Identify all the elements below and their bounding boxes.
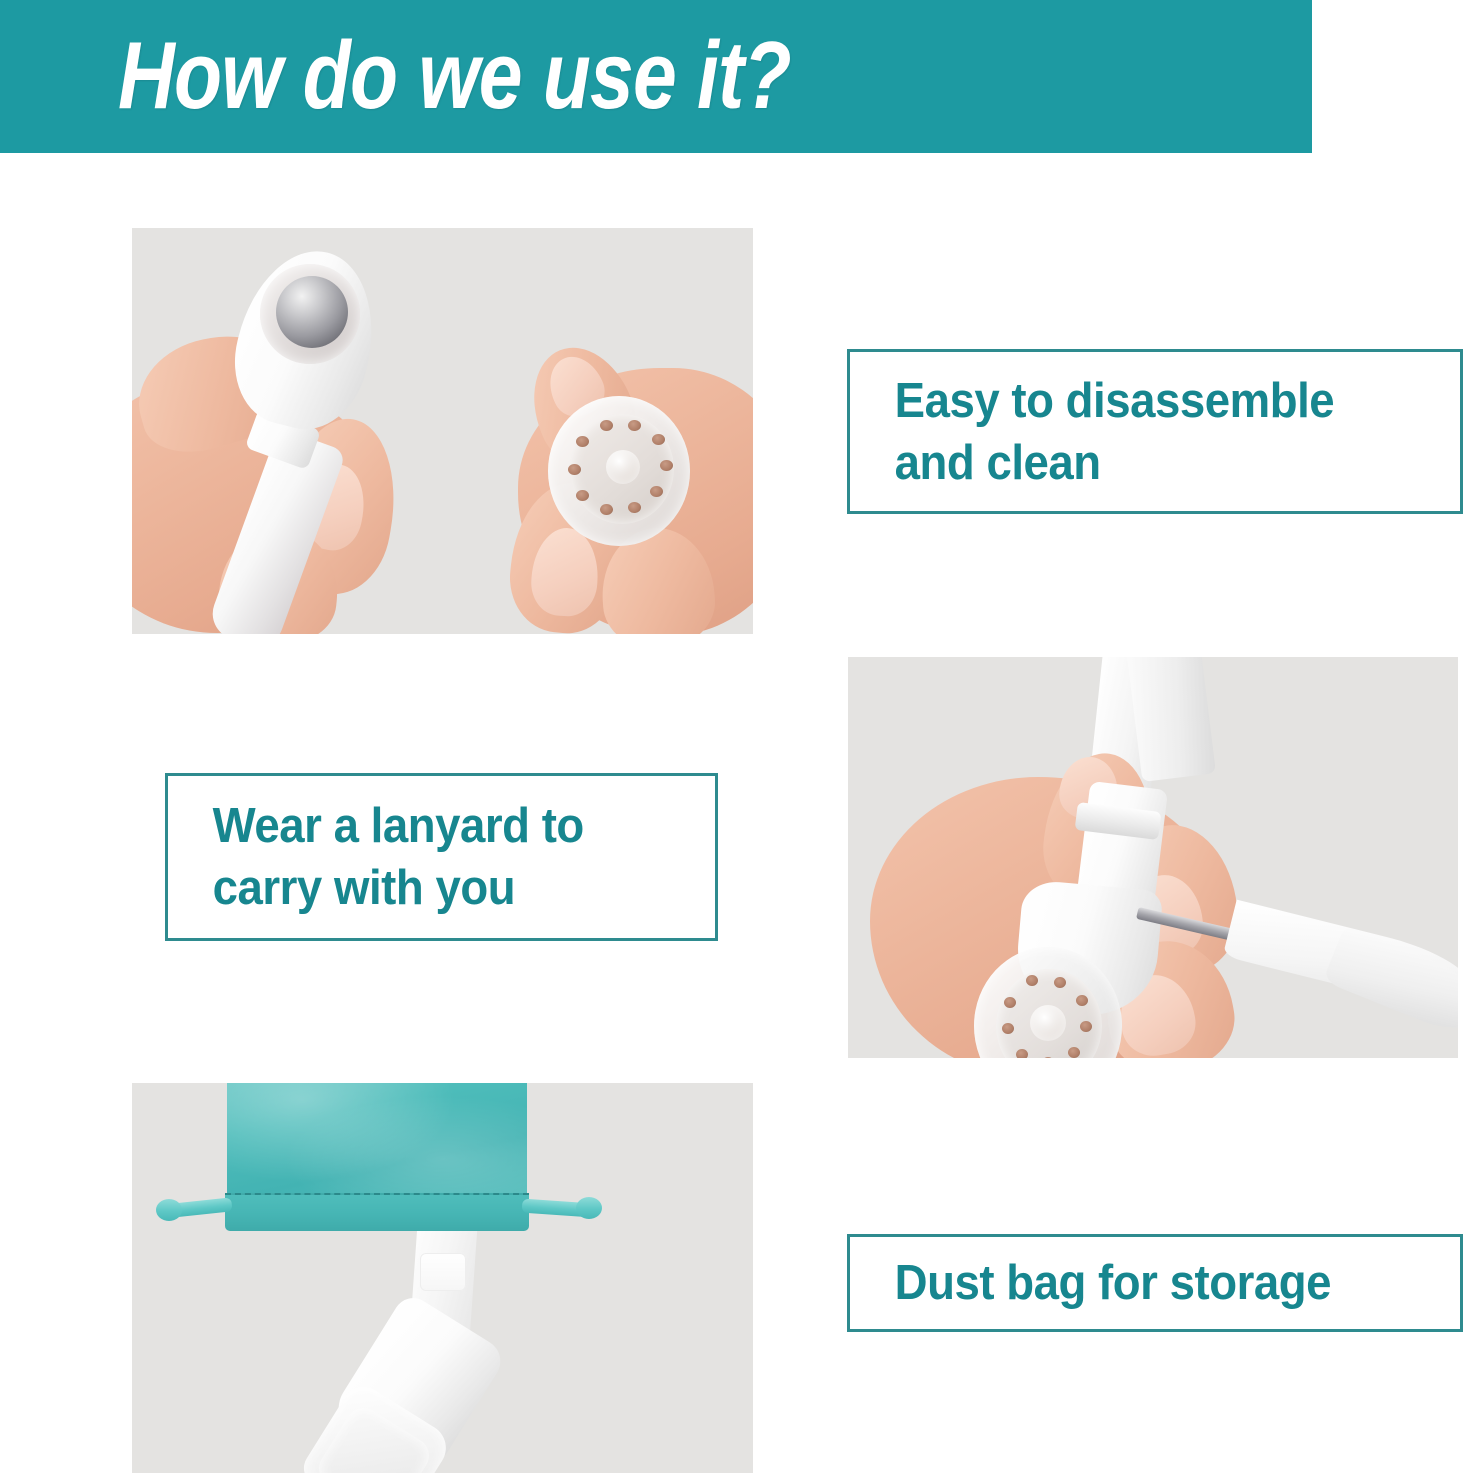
lanyard-strap-tail-end [1323,925,1458,1041]
cap-hole [1004,997,1016,1008]
cap-hole [1068,1047,1080,1058]
callout-lanyard-line2: carry with you [213,861,515,915]
cap-hole [576,436,589,447]
cap-hole [1054,977,1066,988]
cap-hole [1080,1021,1092,1032]
callout-dustbag-label: Dust bag for storage [850,1252,1331,1314]
callout-disassemble: Easy to disassemble and clean [847,349,1463,514]
callout-disassemble-line1: Easy to disassemble [895,374,1335,428]
cap-hole [650,486,663,497]
photo-lanyard-scene [848,657,1458,1058]
clear-cap-center-nub [606,450,640,484]
cap-hole [600,504,613,515]
header-banner: How do we use it? [0,0,1312,153]
cap-hole [1076,995,1088,1006]
photo-lanyard [848,657,1458,1058]
drawcord-right-knot [576,1197,602,1219]
clear-cap-center-nub [1030,1005,1066,1041]
cap-hole [576,490,589,501]
photo-disassemble-scene [132,228,753,634]
lanyard-loop-upper-back [1126,657,1216,782]
cap-hole [628,420,641,431]
dust-bag-hem [225,1193,529,1231]
callout-lanyard-label: Wear a lanyard to carry with you [168,795,584,919]
callout-lanyard: Wear a lanyard to carry with you [165,773,718,941]
cap-hole [652,434,665,445]
photo-dustbag [132,1083,753,1473]
device-button-panel [420,1253,466,1291]
drawcord-left-knot [156,1199,182,1221]
cap-hole [1016,1049,1028,1058]
page-title: How do we use it? [118,16,791,136]
cap-hole [660,460,673,471]
callout-disassemble-line2: and clean [895,436,1101,490]
cap-hole [600,420,613,431]
callout-dustbag: Dust bag for storage [847,1234,1463,1332]
metal-massage-ball [276,276,348,348]
callout-lanyard-line1: Wear a lanyard to [213,799,584,853]
photo-dustbag-scene [132,1083,753,1473]
product-infographic-page: How do we use it? [0,0,1473,1473]
photo-disassemble [132,228,753,634]
cap-hole [1002,1023,1014,1034]
cap-hole [628,502,641,513]
callout-disassemble-label: Easy to disassemble and clean [850,370,1334,494]
cap-hole [568,464,581,475]
cap-hole [1026,975,1038,986]
